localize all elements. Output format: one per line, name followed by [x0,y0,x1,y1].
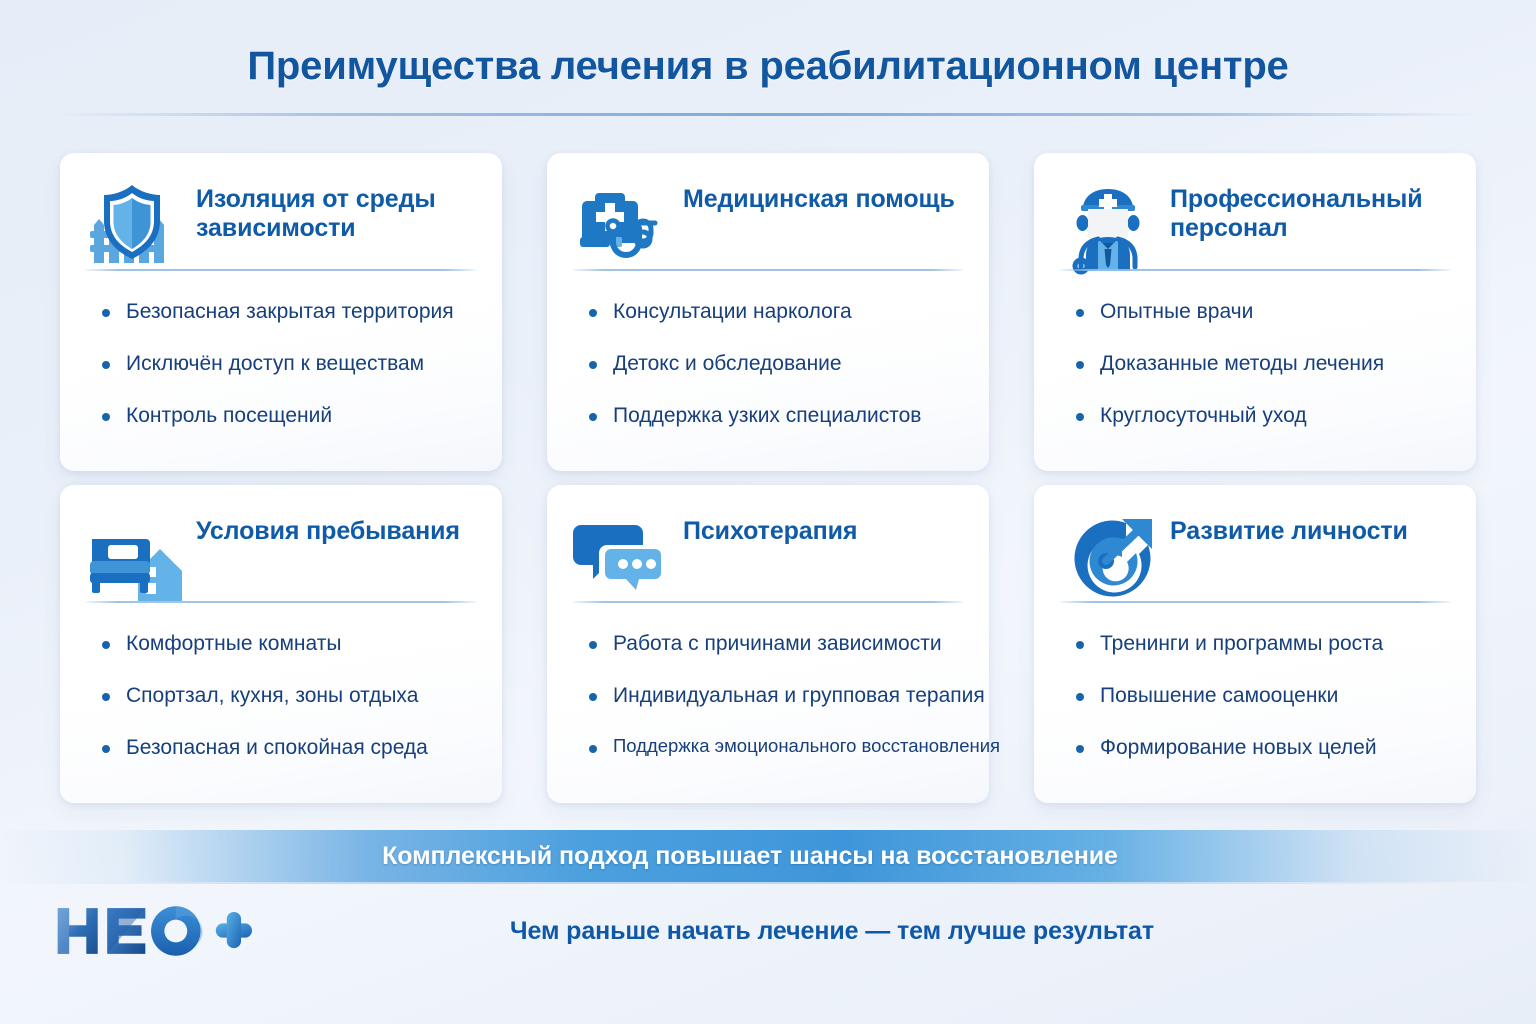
card-title: Условия пребывания [196,509,460,546]
medical-bag-stethoscope-icon [573,179,669,275]
card-medical-help[interactable]: Медицинская помощь Консультации нарколог… [547,153,989,471]
list-item: Доказанные методы лечения [1074,351,1450,376]
banner-text: Комплексный подход повышает шансы на вос… [382,842,1118,871]
card-divider [573,269,963,271]
card-psychotherapy[interactable]: Психотерапия Работа с причинами зависимо… [547,485,989,803]
benefit-list: Комфортные комнаты Спортзал, кухня, зоны… [86,631,476,761]
footer-banner: Комплексный подход повышает шансы на вос… [0,830,1536,882]
list-item: Тренинги и программы роста [1074,631,1450,656]
benefits-card-grid: Изоляция от среды зависимости Безопасная… [60,153,1476,803]
benefit-list: Опытные врачи Доказанные методы лечения … [1060,299,1450,429]
benefit-list: Безопасная закрытая территория Исключён … [86,299,476,429]
footer-row: Чем раньше начать лечение — тем лучше ре… [0,886,1536,976]
list-item: Опытные врачи [1074,299,1450,324]
bed-house-icon [86,511,182,607]
benefit-list: Консультации нарколога Детокс и обследов… [573,299,963,429]
list-item: Формирование новых целей [1074,735,1450,760]
card-divider [86,601,476,603]
list-item: Исключён доступ к веществам [100,351,476,376]
card-title: Медицинская помощь [683,177,955,214]
card-living-conditions[interactable]: Условия пребывания Комфортные комнаты Сп… [60,485,502,803]
list-item: Повышение самооценки [1074,683,1450,708]
list-item: Индивидуальная и групповая терапия [587,683,963,708]
list-item: Поддержка эмоционального восстановления [587,735,963,757]
card-professional-staff[interactable]: Профессиональный персонал Опытные врачи … [1034,153,1476,471]
card-divider [573,601,963,603]
list-item: Безопасная и спокойная среда [100,735,476,760]
card-header: Профессиональный персонал [1060,177,1450,275]
card-divider [1060,601,1450,603]
list-item: Спортзал, кухня, зоны отдыха [100,683,476,708]
benefit-list: Работа с причинами зависимости Индивидуа… [573,631,963,758]
banner-underline [0,882,1536,884]
card-title: Профессиональный персонал [1170,177,1450,243]
speech-bubbles-icon [573,511,669,607]
card-header: Медицинская помощь [573,177,963,275]
page-title: Преимущества лечения в реабилитационном … [0,0,1536,89]
list-item: Работа с причинами зависимости [587,631,963,656]
card-isolation[interactable]: Изоляция от среды зависимости Безопасная… [60,153,502,471]
card-personal-growth[interactable]: Развитие личности Тренинги и программы р… [1034,485,1476,803]
list-item: Контроль посещений [100,403,476,428]
doctor-icon [1060,179,1156,275]
list-item: Поддержка узких специалистов [587,403,963,428]
list-item: Круглосуточный уход [1074,403,1450,428]
card-header: Изоляция от среды зависимости [86,177,476,275]
title-divider [58,113,1478,116]
benefit-list: Тренинги и программы роста Повышение сам… [1060,631,1450,761]
card-header: Развитие личности [1060,509,1450,607]
list-item: Безопасная закрытая территория [100,299,476,324]
card-divider [86,269,476,271]
list-item: Детокс и обследование [587,351,963,376]
card-divider [1060,269,1450,271]
card-header: Психотерапия [573,509,963,607]
card-title: Психотерапия [683,509,857,546]
target-arrow-icon [1060,511,1156,607]
card-title: Изоляция от среды зависимости [196,177,476,243]
footer-tagline: Чем раньше начать лечение — тем лучше ре… [190,917,1474,946]
card-title: Развитие личности [1170,509,1408,546]
card-header: Условия пребывания [86,509,476,607]
shield-fence-icon [86,179,182,275]
list-item: Консультации нарколога [587,299,963,324]
list-item: Комфортные комнаты [100,631,476,656]
